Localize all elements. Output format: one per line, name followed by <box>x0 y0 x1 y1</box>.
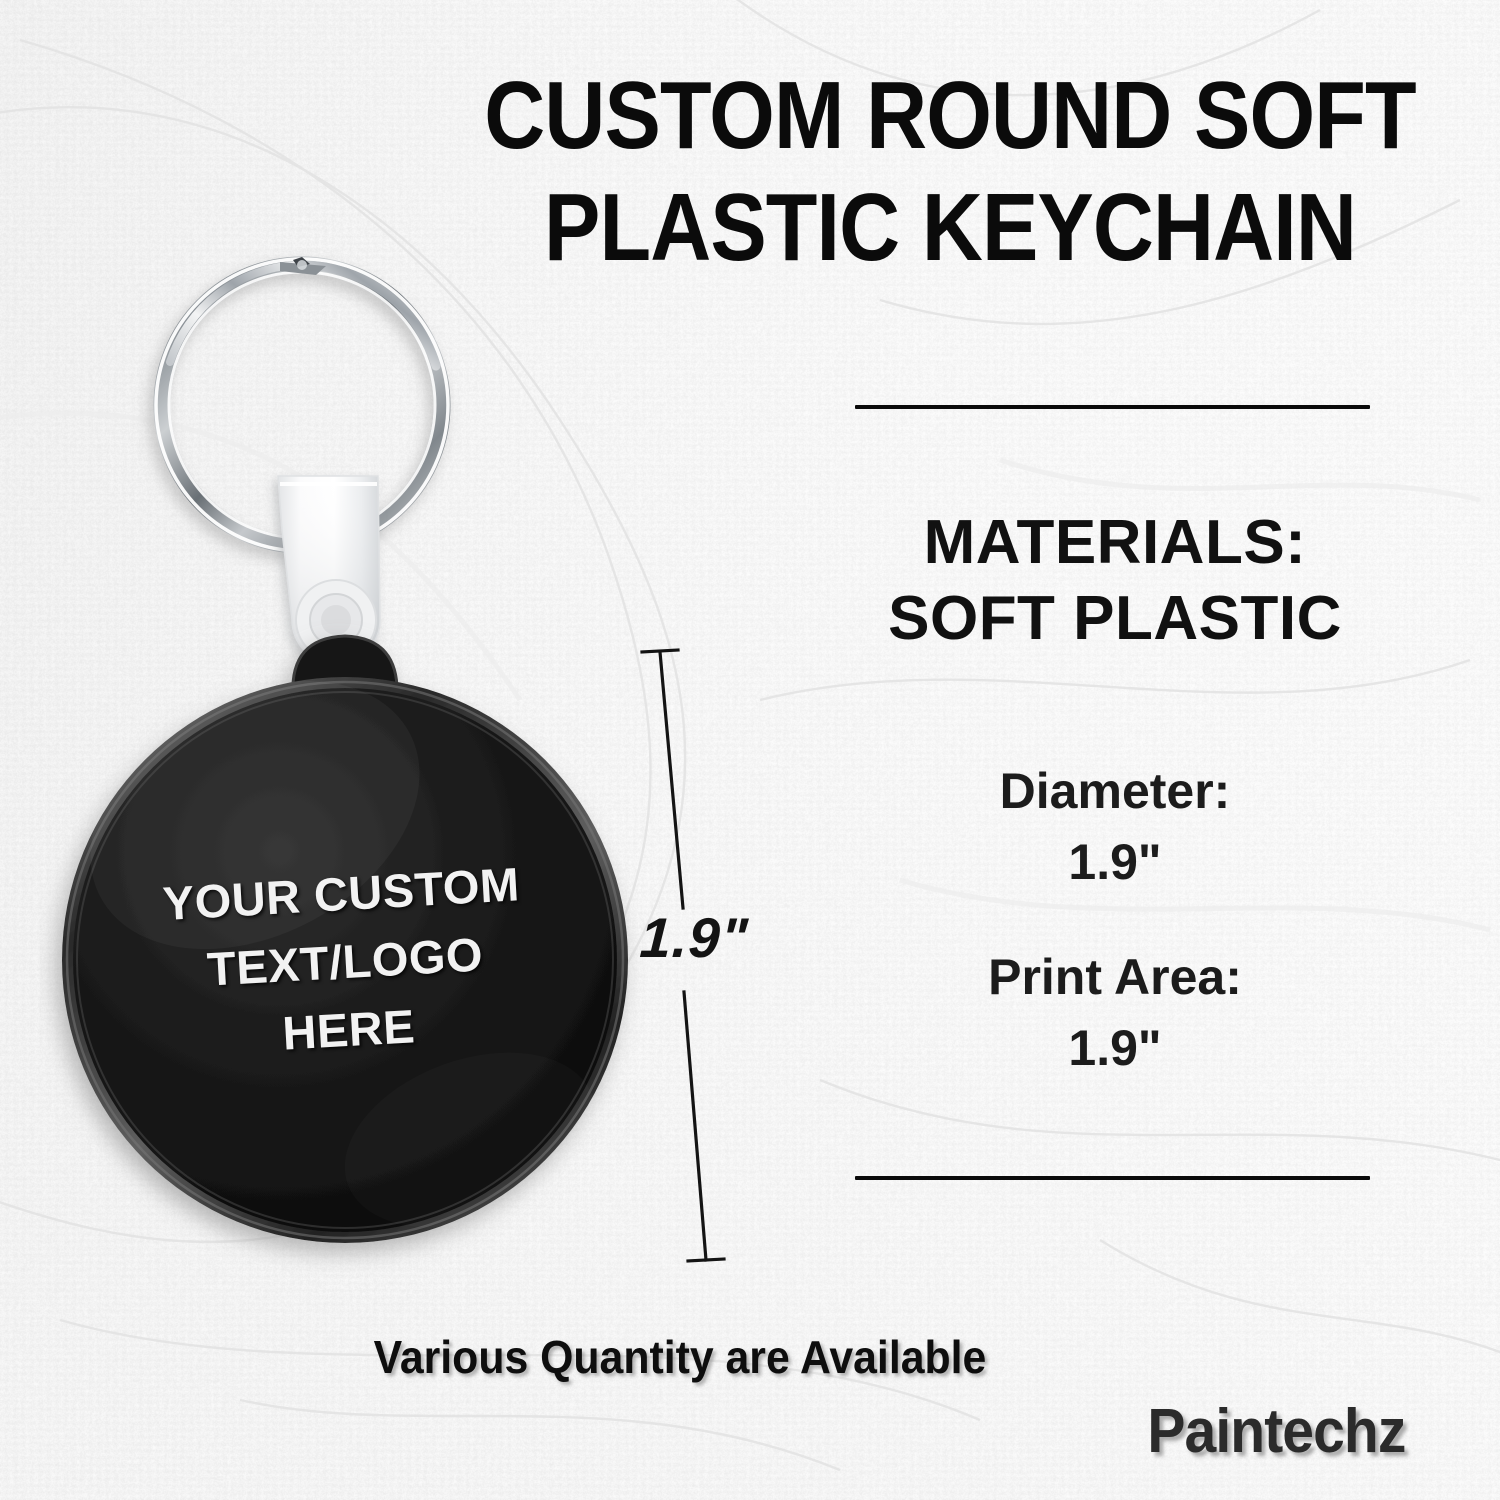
print-area-group: Print Area: 1.9" <box>855 942 1375 1084</box>
brand-logo: Paintechz <box>1147 1396 1405 1467</box>
specifications-panel: MATERIALS: SOFT PLASTIC Diameter: 1.9" P… <box>855 405 1375 1084</box>
divider-bottom <box>855 1176 1370 1180</box>
keychain-disc <box>40 600 660 1300</box>
diameter-group: Diameter: 1.9" <box>855 756 1375 898</box>
dimensions-block: Diameter: 1.9" Print Area: 1.9" <box>855 756 1375 1084</box>
divider-top <box>855 405 1370 409</box>
materials-value: SOFT PLASTIC <box>855 581 1375 657</box>
print-area-value: 1.9" <box>855 1013 1375 1084</box>
materials-block: MATERIALS: SOFT PLASTIC <box>855 505 1375 656</box>
availability-note: Various Quantity are Available <box>215 1330 1145 1384</box>
materials-label: MATERIALS: <box>855 505 1375 581</box>
diameter-label: Diameter: <box>1000 763 1231 819</box>
diameter-value: 1.9" <box>855 827 1375 898</box>
dimension-label: 1.9" <box>638 905 750 970</box>
print-area-label: Print Area: <box>988 949 1242 1005</box>
